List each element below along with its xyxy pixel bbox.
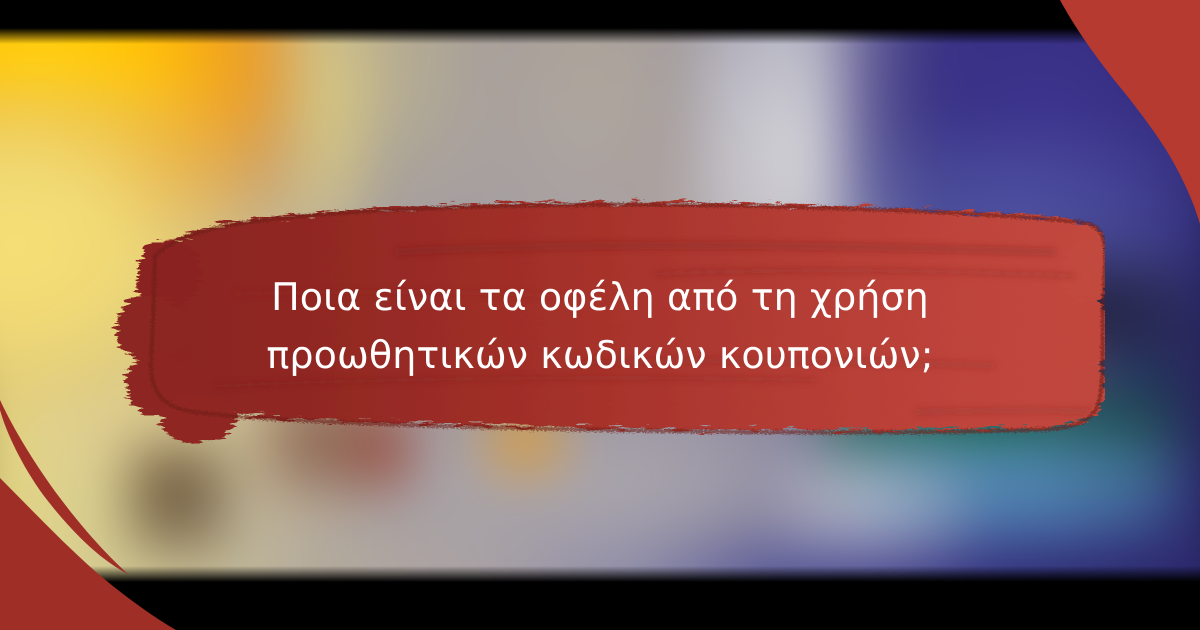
quote-card: Ποια είναι τα οφέλη από τη χρήση προωθητ… — [0, 0, 1200, 630]
letterbox-bar-top — [0, 0, 1200, 28]
quote-line-1: Ποια είναι τα οφέλη από τη χρήση — [150, 268, 1050, 326]
quote-line-2: προωθητικών κωδικών κουπονιών; — [150, 326, 1050, 384]
bg-foreground-brown-left — [125, 440, 235, 560]
bg-foreground-pale-right — [780, 450, 970, 570]
quote-text: Ποια είναι τα οφέλη από τη χρήση προωθητ… — [150, 268, 1050, 384]
letterbox-bar-bottom — [0, 582, 1200, 630]
